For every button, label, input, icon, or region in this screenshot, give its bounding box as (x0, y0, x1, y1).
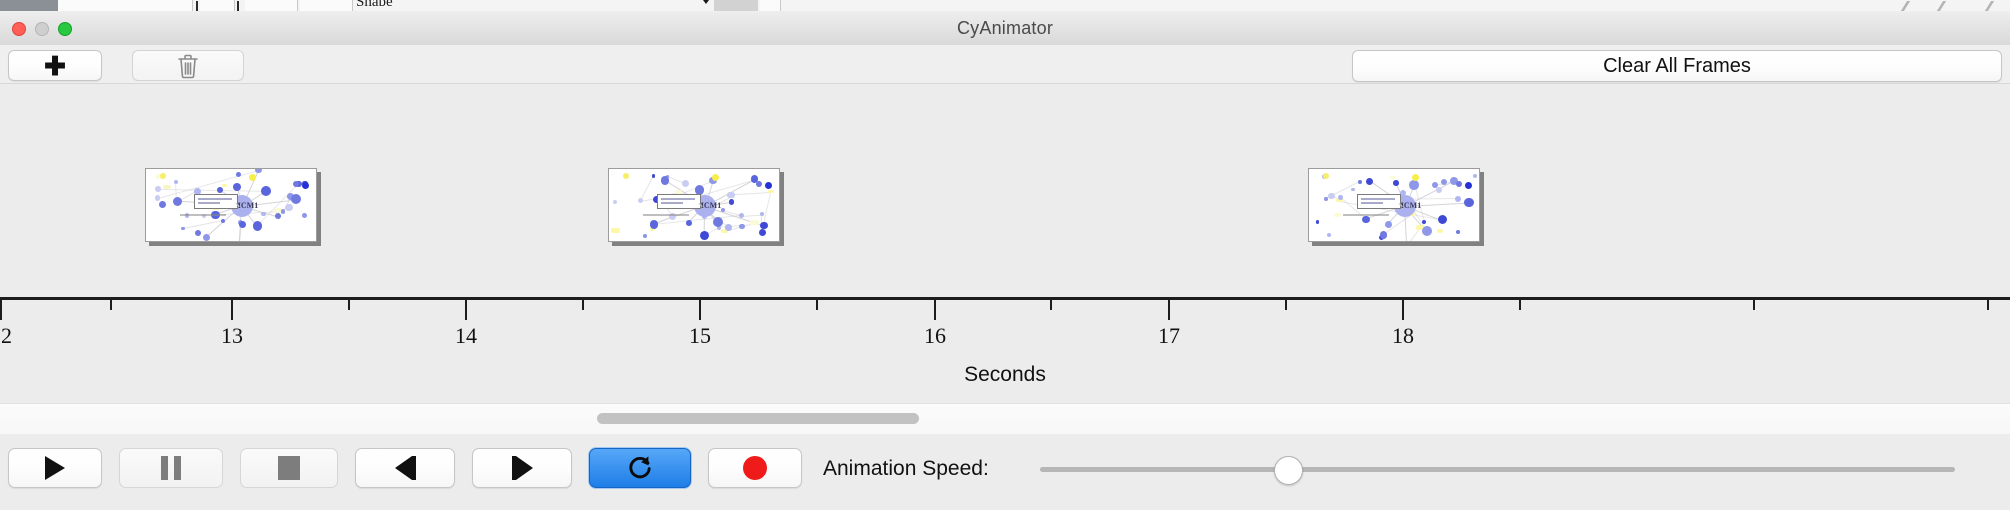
axis-tick-minor (110, 300, 112, 310)
axis-tick-label: 18 (1392, 323, 1414, 349)
network-node (1437, 229, 1444, 233)
network-node (739, 213, 745, 219)
network-node (725, 224, 732, 231)
network-node (1456, 230, 1460, 234)
network-node (739, 224, 744, 229)
network-caption-line (180, 214, 226, 216)
keyframe-thumbnail[interactable]: MCM1 (145, 168, 317, 242)
title-bar: CyAnimator (0, 11, 2010, 46)
network-caption-line (1343, 214, 1389, 216)
network-node (1316, 220, 1320, 224)
loop-button[interactable] (589, 448, 691, 488)
axis-tick-label: 12 (0, 323, 12, 349)
pause-icon (161, 456, 181, 480)
network-node (275, 213, 281, 219)
network-node (293, 181, 299, 187)
network-node (291, 194, 301, 204)
record-icon (743, 456, 767, 480)
keyframe-network-preview: MCM1 (146, 169, 316, 241)
network-node (750, 220, 759, 225)
network-node (1334, 213, 1341, 217)
network-node (1358, 180, 1362, 184)
network-callout-box (194, 194, 238, 209)
axis-tick-major (1168, 300, 1170, 320)
network-node (1362, 216, 1370, 224)
network-node (173, 197, 182, 206)
network-node (638, 198, 643, 203)
network-node (1422, 226, 1432, 236)
skip-forward-icon (512, 456, 533, 480)
network-node (1328, 193, 1334, 199)
axis-line (0, 297, 2010, 300)
add-frame-button[interactable]: ✚ (8, 50, 102, 81)
axis-tick-major (0, 300, 2, 320)
pause-button[interactable] (119, 448, 223, 488)
network-node (302, 182, 309, 189)
animation-speed-label: Animation Speed: (823, 457, 989, 481)
network-caption-line (643, 214, 689, 216)
axis-tick-major (231, 300, 233, 320)
network-node (1436, 187, 1442, 193)
network-node (1380, 231, 1387, 238)
keyframe-thumbnail[interactable]: MCM1 (1308, 168, 1480, 242)
network-node (611, 228, 619, 233)
keyframe-network-preview: MCM1 (609, 169, 779, 241)
network-node (159, 201, 166, 208)
network-node (1412, 174, 1419, 181)
network-node (661, 176, 670, 185)
network-node (163, 185, 171, 189)
axis-tick-minor (1285, 300, 1287, 310)
network-node (759, 229, 766, 236)
network-node (1465, 182, 1472, 189)
network-node (221, 219, 225, 223)
keyframe-network-preview: MCM1 (1309, 169, 1479, 241)
axis-tick-minor (348, 300, 350, 310)
network-node (650, 220, 659, 229)
skip-back-icon (395, 456, 416, 480)
network-node (255, 169, 261, 173)
axis-tick-label: 15 (689, 323, 711, 349)
first-frame-button[interactable] (355, 448, 455, 488)
play-icon (45, 456, 65, 480)
network-node (1473, 174, 1478, 179)
axis-tick-minor (1987, 300, 1989, 310)
axis-tick-minor (816, 300, 818, 310)
network-edge (158, 189, 266, 192)
network-edge (741, 214, 762, 216)
network-node (1422, 220, 1426, 224)
network-node (1409, 180, 1419, 190)
network-node (195, 230, 201, 236)
playback-control-bar: Animation Speed: (0, 434, 2010, 510)
axis-tick-major (1402, 300, 1404, 320)
slider-track (1040, 467, 1955, 472)
axis-tick-minor (1753, 300, 1755, 310)
loop-icon (625, 453, 655, 483)
record-button[interactable] (708, 448, 802, 488)
keyframes-layer: MCM1MCM1MCM1 (0, 84, 2010, 314)
network-node (236, 172, 241, 177)
network-node (768, 190, 773, 193)
network-node (643, 234, 647, 238)
background-strip-text: Shape (356, 0, 393, 6)
network-node (760, 212, 764, 216)
network-node (181, 227, 184, 230)
network-node (760, 222, 768, 230)
network-callout-box (657, 194, 701, 209)
trash-icon (176, 53, 200, 79)
axis-tick-minor (1519, 300, 1521, 310)
network-node (686, 220, 692, 226)
window-title: CyAnimator (0, 11, 2010, 45)
network-node (1385, 221, 1392, 228)
network-node (261, 186, 271, 196)
network-node (1455, 196, 1461, 202)
network-node (203, 234, 210, 241)
network-node (1323, 173, 1329, 179)
plus-icon: ✚ (44, 53, 66, 79)
network-node (1464, 198, 1474, 208)
network-node (682, 180, 689, 187)
network-node (652, 174, 656, 178)
network-node (729, 192, 734, 197)
network-node (613, 200, 617, 204)
network-node (623, 173, 629, 179)
network-node (281, 209, 285, 213)
cyanimator-window: Shape CyAnimator ✚ Clear All Frames (0, 0, 2010, 510)
network-node (1390, 176, 1396, 180)
axis-tick-label: 16 (924, 323, 946, 349)
frames-toolbar: ✚ Clear All Frames (0, 45, 2010, 84)
network-node (253, 221, 263, 231)
network-node (1324, 197, 1327, 200)
network-edge (1407, 229, 1420, 241)
last-frame-button[interactable] (472, 448, 572, 488)
network-node (285, 204, 292, 211)
network-node (302, 213, 307, 218)
stop-icon (278, 456, 300, 480)
network-node (222, 184, 227, 187)
network-node (1456, 181, 1462, 187)
network-node (729, 199, 735, 205)
network-node (1438, 215, 1447, 224)
network-node (217, 187, 223, 193)
play-button[interactable] (8, 448, 102, 488)
network-node (1393, 180, 1399, 186)
axis-tick-label: 14 (455, 323, 477, 349)
keyframe-thumbnail[interactable]: MCM1 (608, 168, 780, 242)
timeline-scrollbar-thumb[interactable] (597, 413, 919, 424)
axis-tick-label: 13 (221, 323, 243, 349)
network-node (756, 181, 762, 187)
network-node (155, 195, 160, 200)
slider-thumb[interactable] (1274, 456, 1303, 485)
axis-tick-minor (1050, 300, 1052, 310)
axis-tick-major (699, 300, 701, 320)
network-node (174, 180, 178, 184)
delete-frame-button[interactable] (132, 50, 244, 81)
stop-button[interactable] (240, 448, 338, 488)
network-node (765, 182, 772, 189)
network-node (239, 221, 246, 228)
clear-all-frames-button[interactable]: Clear All Frames (1352, 50, 2002, 82)
network-node (700, 231, 709, 240)
clear-all-frames-label: Clear All Frames (1603, 55, 1751, 78)
network-node (1338, 195, 1343, 200)
axis-title: Seconds (0, 363, 2010, 387)
network-node (1327, 233, 1331, 237)
timeline-axis: 12131415161718 Seconds (0, 297, 2010, 404)
network-edge (640, 176, 654, 201)
axis-tick-label: 17 (1158, 323, 1180, 349)
axis-tick-minor (582, 300, 584, 310)
network-node (249, 174, 256, 181)
network-node (160, 173, 166, 179)
network-callout-box (1357, 194, 1401, 209)
network-node (712, 174, 719, 181)
animation-speed-slider[interactable] (1040, 467, 1955, 473)
axis-tick-major (465, 300, 467, 320)
axis-tick-major (934, 300, 936, 320)
timeline-scrollbar[interactable] (0, 403, 2010, 435)
network-node (155, 186, 161, 192)
network-edge (763, 192, 771, 225)
network-edge (730, 192, 771, 195)
network-node (1351, 188, 1355, 192)
timeline-panel[interactable]: MCM1MCM1MCM1 12131415161718 Seconds (0, 83, 2010, 404)
